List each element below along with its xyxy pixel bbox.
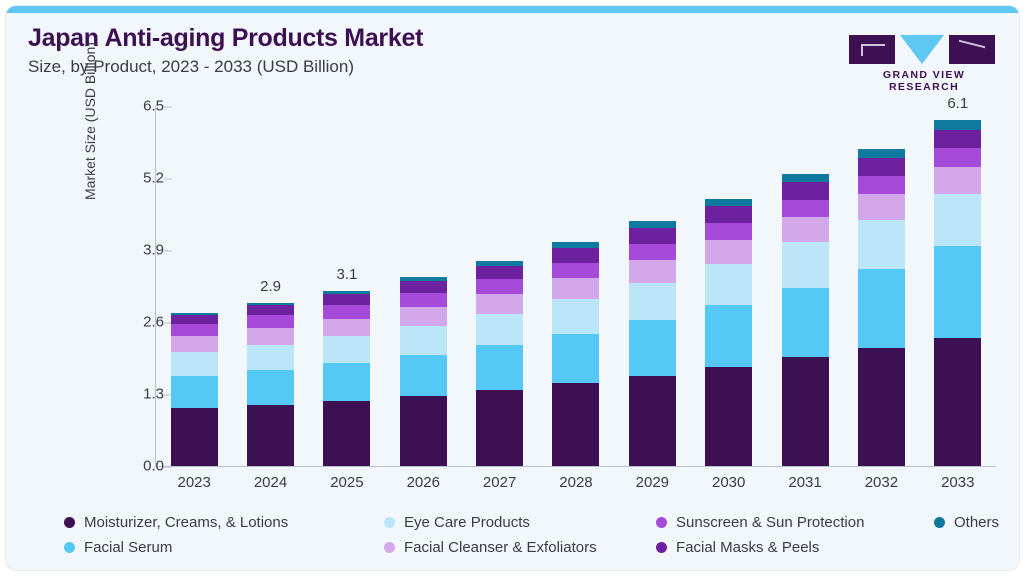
bar-column[interactable]: 2027: [461, 106, 537, 466]
bar-segment[interactable]: [400, 355, 447, 396]
bar-segment[interactable]: [247, 405, 294, 466]
bar-segment[interactable]: [934, 194, 981, 246]
legend-color-swatch: [384, 517, 395, 528]
bar-segment[interactable]: [171, 376, 218, 408]
bar-segment[interactable]: [782, 242, 829, 287]
bar-segment[interactable]: [552, 334, 599, 384]
chart-legend: Moisturizer, Creams, & LotionsEye Care P…: [64, 514, 1004, 556]
bar-column[interactable]: 2031: [767, 106, 843, 466]
bar-segment[interactable]: [476, 390, 523, 466]
bar-segment[interactable]: [858, 220, 905, 269]
bar-segment[interactable]: [705, 199, 752, 207]
bar-segment[interactable]: [705, 264, 752, 306]
bar-segment[interactable]: [171, 336, 218, 352]
brand-logo: GRAND VIEW RESEARCH: [849, 34, 999, 93]
legend-color-swatch: [656, 517, 667, 528]
bar-segment[interactable]: [858, 348, 905, 466]
legend-item[interactable]: Sunscreen & Sun Protection: [656, 514, 934, 531]
bar-segment[interactable]: [476, 294, 523, 314]
legend-color-swatch: [64, 517, 75, 528]
y-axis-tick-mark: [164, 466, 172, 467]
legend-color-swatch: [64, 542, 75, 553]
stacked-bar[interactable]: [323, 291, 370, 466]
bar-segment[interactable]: [400, 326, 447, 355]
legend-label: Eye Care Products: [404, 514, 530, 531]
bar-segment[interactable]: [629, 320, 676, 375]
x-axis-tick-label: 2029: [614, 474, 690, 491]
bar-series-container: 20232.920243.120252026202720282029203020…: [156, 106, 996, 466]
bar-segment[interactable]: [400, 293, 447, 307]
bar-segment[interactable]: [782, 200, 829, 218]
stacked-bar[interactable]: [552, 242, 599, 466]
legend-label: Moisturizer, Creams, & Lotions: [84, 514, 288, 531]
bar-column[interactable]: 2030: [691, 106, 767, 466]
bar-segment[interactable]: [247, 345, 294, 370]
bar-segment[interactable]: [552, 263, 599, 279]
x-axis-line: [155, 466, 996, 467]
bar-segment[interactable]: [858, 158, 905, 176]
bar-value-label: 2.9: [232, 278, 308, 295]
bar-segment[interactable]: [400, 307, 447, 326]
legend-item[interactable]: Eye Care Products: [384, 514, 656, 531]
bar-segment[interactable]: [934, 148, 981, 167]
logo-triangle-icon: [900, 35, 944, 64]
bar-segment[interactable]: [629, 376, 676, 466]
legend-item[interactable]: Moisturizer, Creams, & Lotions: [64, 514, 384, 531]
top-accent-bar: [6, 6, 1019, 13]
bar-segment[interactable]: [858, 269, 905, 348]
legend-item[interactable]: Facial Masks & Peels: [656, 539, 934, 556]
bar-segment[interactable]: [476, 314, 523, 346]
bar-segment[interactable]: [171, 315, 218, 324]
bar-segment[interactable]: [323, 401, 370, 466]
legend-item[interactable]: Facial Serum: [64, 539, 384, 556]
stacked-bar[interactable]: [400, 277, 447, 466]
bar-segment[interactable]: [705, 240, 752, 264]
bar-segment[interactable]: [934, 120, 981, 130]
bar-column[interactable]: 2032: [843, 106, 919, 466]
bar-segment[interactable]: [705, 305, 752, 367]
legend-label: Facial Masks & Peels: [676, 539, 819, 556]
stacked-bar[interactable]: [934, 120, 981, 466]
chart-plot-area: Market Size (USD Billion) 0.01.32.63.95.…: [116, 106, 996, 473]
bar-column[interactable]: 3.12025: [309, 106, 385, 466]
chart-card: Japan Anti-aging Products Market Size, b…: [6, 6, 1019, 570]
bar-segment[interactable]: [629, 244, 676, 260]
x-axis-tick-label: 2027: [461, 474, 537, 491]
bar-column[interactable]: 2026: [385, 106, 461, 466]
bar-segment[interactable]: [171, 324, 218, 336]
bar-segment[interactable]: [476, 279, 523, 293]
x-axis-tick-label: 2030: [691, 474, 767, 491]
legend-item[interactable]: Facial Cleanser & Exfoliators: [384, 539, 656, 556]
bar-segment[interactable]: [934, 130, 981, 148]
bar-column[interactable]: 2029: [614, 106, 690, 466]
bar-segment[interactable]: [552, 299, 599, 333]
bar-segment[interactable]: [782, 357, 829, 466]
bar-segment[interactable]: [782, 174, 829, 182]
bar-segment[interactable]: [629, 260, 676, 283]
bar-segment[interactable]: [934, 246, 981, 337]
bar-segment[interactable]: [705, 367, 752, 466]
bar-segment[interactable]: [705, 206, 752, 223]
legend-color-swatch: [934, 517, 945, 528]
bar-segment[interactable]: [323, 363, 370, 401]
bar-segment[interactable]: [323, 305, 370, 318]
bar-segment[interactable]: [400, 396, 447, 466]
legend-color-swatch: [384, 542, 395, 553]
bar-column[interactable]: 2028: [538, 106, 614, 466]
bar-segment[interactable]: [629, 283, 676, 321]
y-axis-label: Market Size (USD Billion): [82, 42, 98, 200]
bar-segment[interactable]: [247, 370, 294, 405]
x-axis-tick-label: 2025: [309, 474, 385, 491]
logo-text: GRAND VIEW RESEARCH: [849, 69, 999, 93]
legend-color-swatch: [656, 542, 667, 553]
bar-value-label: 6.1: [920, 95, 996, 112]
x-axis-tick-label: 2026: [385, 474, 461, 491]
bar-segment[interactable]: [171, 408, 218, 466]
bar-segment[interactable]: [629, 228, 676, 244]
bar-column[interactable]: 6.12033: [920, 106, 996, 466]
x-axis-tick-label: 2033: [920, 474, 996, 491]
logo-r-icon: [949, 35, 995, 64]
bar-segment[interactable]: [934, 167, 981, 194]
legend-label: Others: [954, 514, 999, 531]
bar-segment[interactable]: [782, 288, 829, 358]
bar-segment[interactable]: [552, 278, 599, 299]
bar-column[interactable]: 2023: [156, 106, 232, 466]
stacked-bar[interactable]: [629, 221, 676, 466]
bar-segment[interactable]: [858, 176, 905, 194]
legend-label: Facial Serum: [84, 539, 172, 556]
bar-segment[interactable]: [552, 383, 599, 466]
bar-segment[interactable]: [552, 248, 599, 262]
bar-segment[interactable]: [782, 182, 829, 199]
x-axis-tick-label: 2024: [232, 474, 308, 491]
stacked-bar[interactable]: [858, 149, 905, 466]
bar-segment[interactable]: [400, 281, 447, 293]
bar-segment[interactable]: [858, 194, 905, 220]
bar-segment[interactable]: [476, 345, 523, 390]
x-axis-tick-label: 2023: [156, 474, 232, 491]
bar-segment[interactable]: [247, 328, 294, 345]
bar-segment[interactable]: [858, 149, 905, 158]
legend-label: Sunscreen & Sun Protection: [676, 514, 864, 531]
bar-value-label: 3.1: [309, 266, 385, 283]
logo-g-icon: [849, 35, 895, 64]
bar-segment[interactable]: [247, 315, 294, 328]
screenshot-root: Japan Anti-aging Products Market Size, b…: [0, 0, 1025, 576]
bar-segment[interactable]: [247, 305, 294, 315]
x-axis-tick-label: 2032: [843, 474, 919, 491]
bar-segment[interactable]: [171, 352, 218, 376]
bar-segment[interactable]: [629, 221, 676, 228]
stacked-bar[interactable]: [247, 303, 294, 466]
bar-segment[interactable]: [323, 336, 370, 363]
logo-marks: [849, 34, 999, 64]
bar-segment[interactable]: [323, 294, 370, 305]
bar-segment[interactable]: [934, 338, 981, 466]
bar-column[interactable]: 2.92024: [232, 106, 308, 466]
legend-item[interactable]: Others: [934, 514, 1004, 531]
bar-segment[interactable]: [705, 223, 752, 240]
bar-segment[interactable]: [782, 217, 829, 242]
x-axis-tick-label: 2028: [538, 474, 614, 491]
x-axis-tick-label: 2031: [767, 474, 843, 491]
stacked-bar[interactable]: [171, 313, 218, 466]
legend-label: Facial Cleanser & Exfoliators: [404, 539, 597, 556]
bar-segment[interactable]: [323, 319, 370, 337]
stacked-bar[interactable]: [705, 199, 752, 466]
bar-segment[interactable]: [476, 266, 523, 279]
stacked-bar[interactable]: [782, 174, 829, 466]
stacked-bar[interactable]: [476, 261, 523, 466]
